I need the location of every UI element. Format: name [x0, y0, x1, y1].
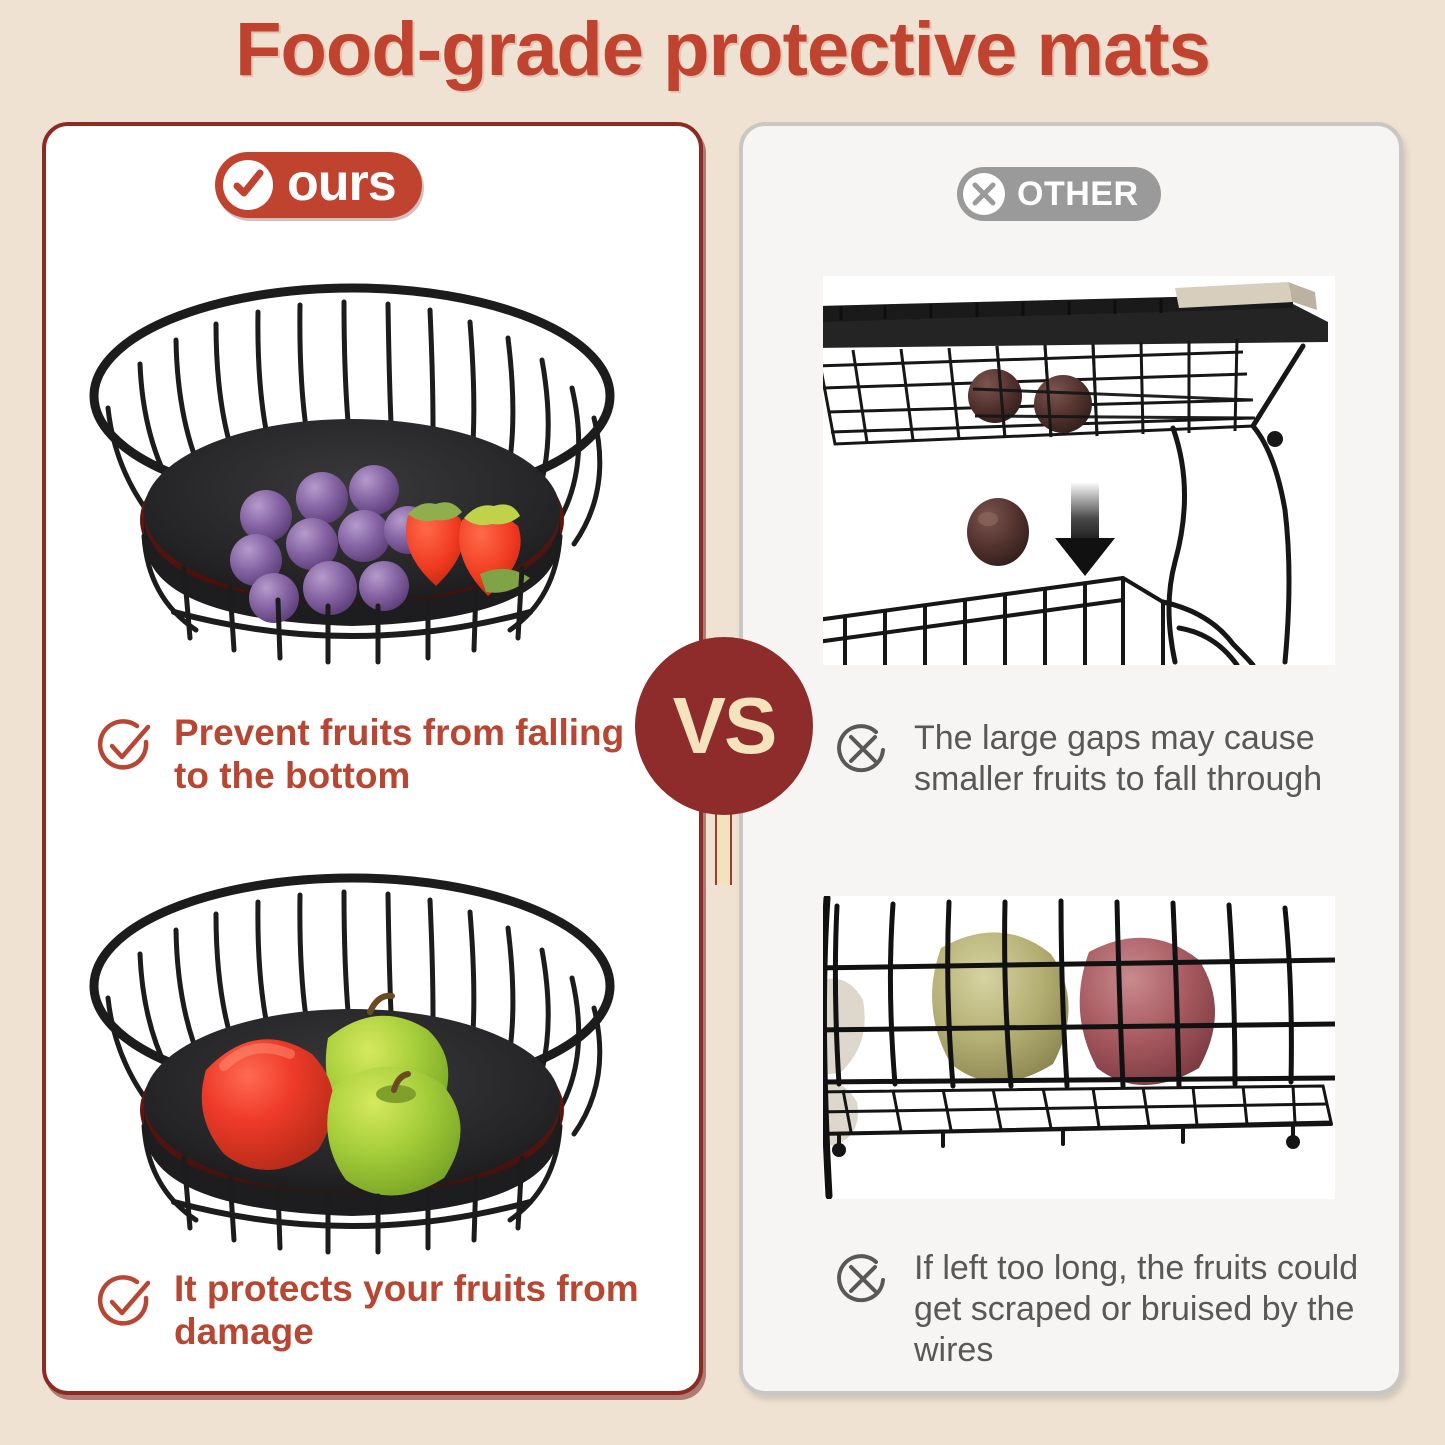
- other-caption-row-1: The large gaps may cause smaller fruits …: [834, 718, 1364, 800]
- circle-check-icon: [96, 716, 154, 774]
- other-caption-text-2: If left too long, the fruits could get s…: [914, 1248, 1364, 1370]
- page-title: Food-grade protective mats: [0, 6, 1445, 93]
- infographic-page: Food-grade protective mats ours: [0, 0, 1445, 1445]
- circle-x-icon: [834, 1250, 892, 1308]
- ours-basket-grapes-photo: [78, 268, 626, 668]
- other-rack-gaps-photo: [823, 276, 1335, 665]
- ours-caption-row-2: It protects your fruits from damage: [96, 1268, 641, 1354]
- cross-mark-icon: [963, 173, 1005, 215]
- ours-badge: ours: [215, 152, 422, 218]
- ours-caption-text-1: Prevent fruits from falling to the botto…: [174, 712, 641, 798]
- ours-caption-row-1: Prevent fruits from falling to the botto…: [96, 712, 641, 798]
- other-badge-label: OTHER: [1017, 177, 1139, 211]
- check-mark-icon: [223, 160, 273, 210]
- ours-badge-label: ours: [287, 157, 396, 214]
- vs-badge: VS: [635, 637, 813, 815]
- other-caption-row-2: If left too long, the fruits could get s…: [834, 1248, 1364, 1370]
- ours-basket-apples-photo: [78, 858, 626, 1258]
- other-badge: OTHER: [957, 167, 1161, 221]
- circle-check-icon: [96, 1272, 154, 1330]
- circle-x-icon: [834, 720, 892, 778]
- other-caption-text-1: The large gaps may cause smaller fruits …: [914, 718, 1364, 800]
- ours-caption-text-2: It protects your fruits from damage: [174, 1268, 641, 1354]
- other-wires-bruise-photo: [823, 896, 1335, 1199]
